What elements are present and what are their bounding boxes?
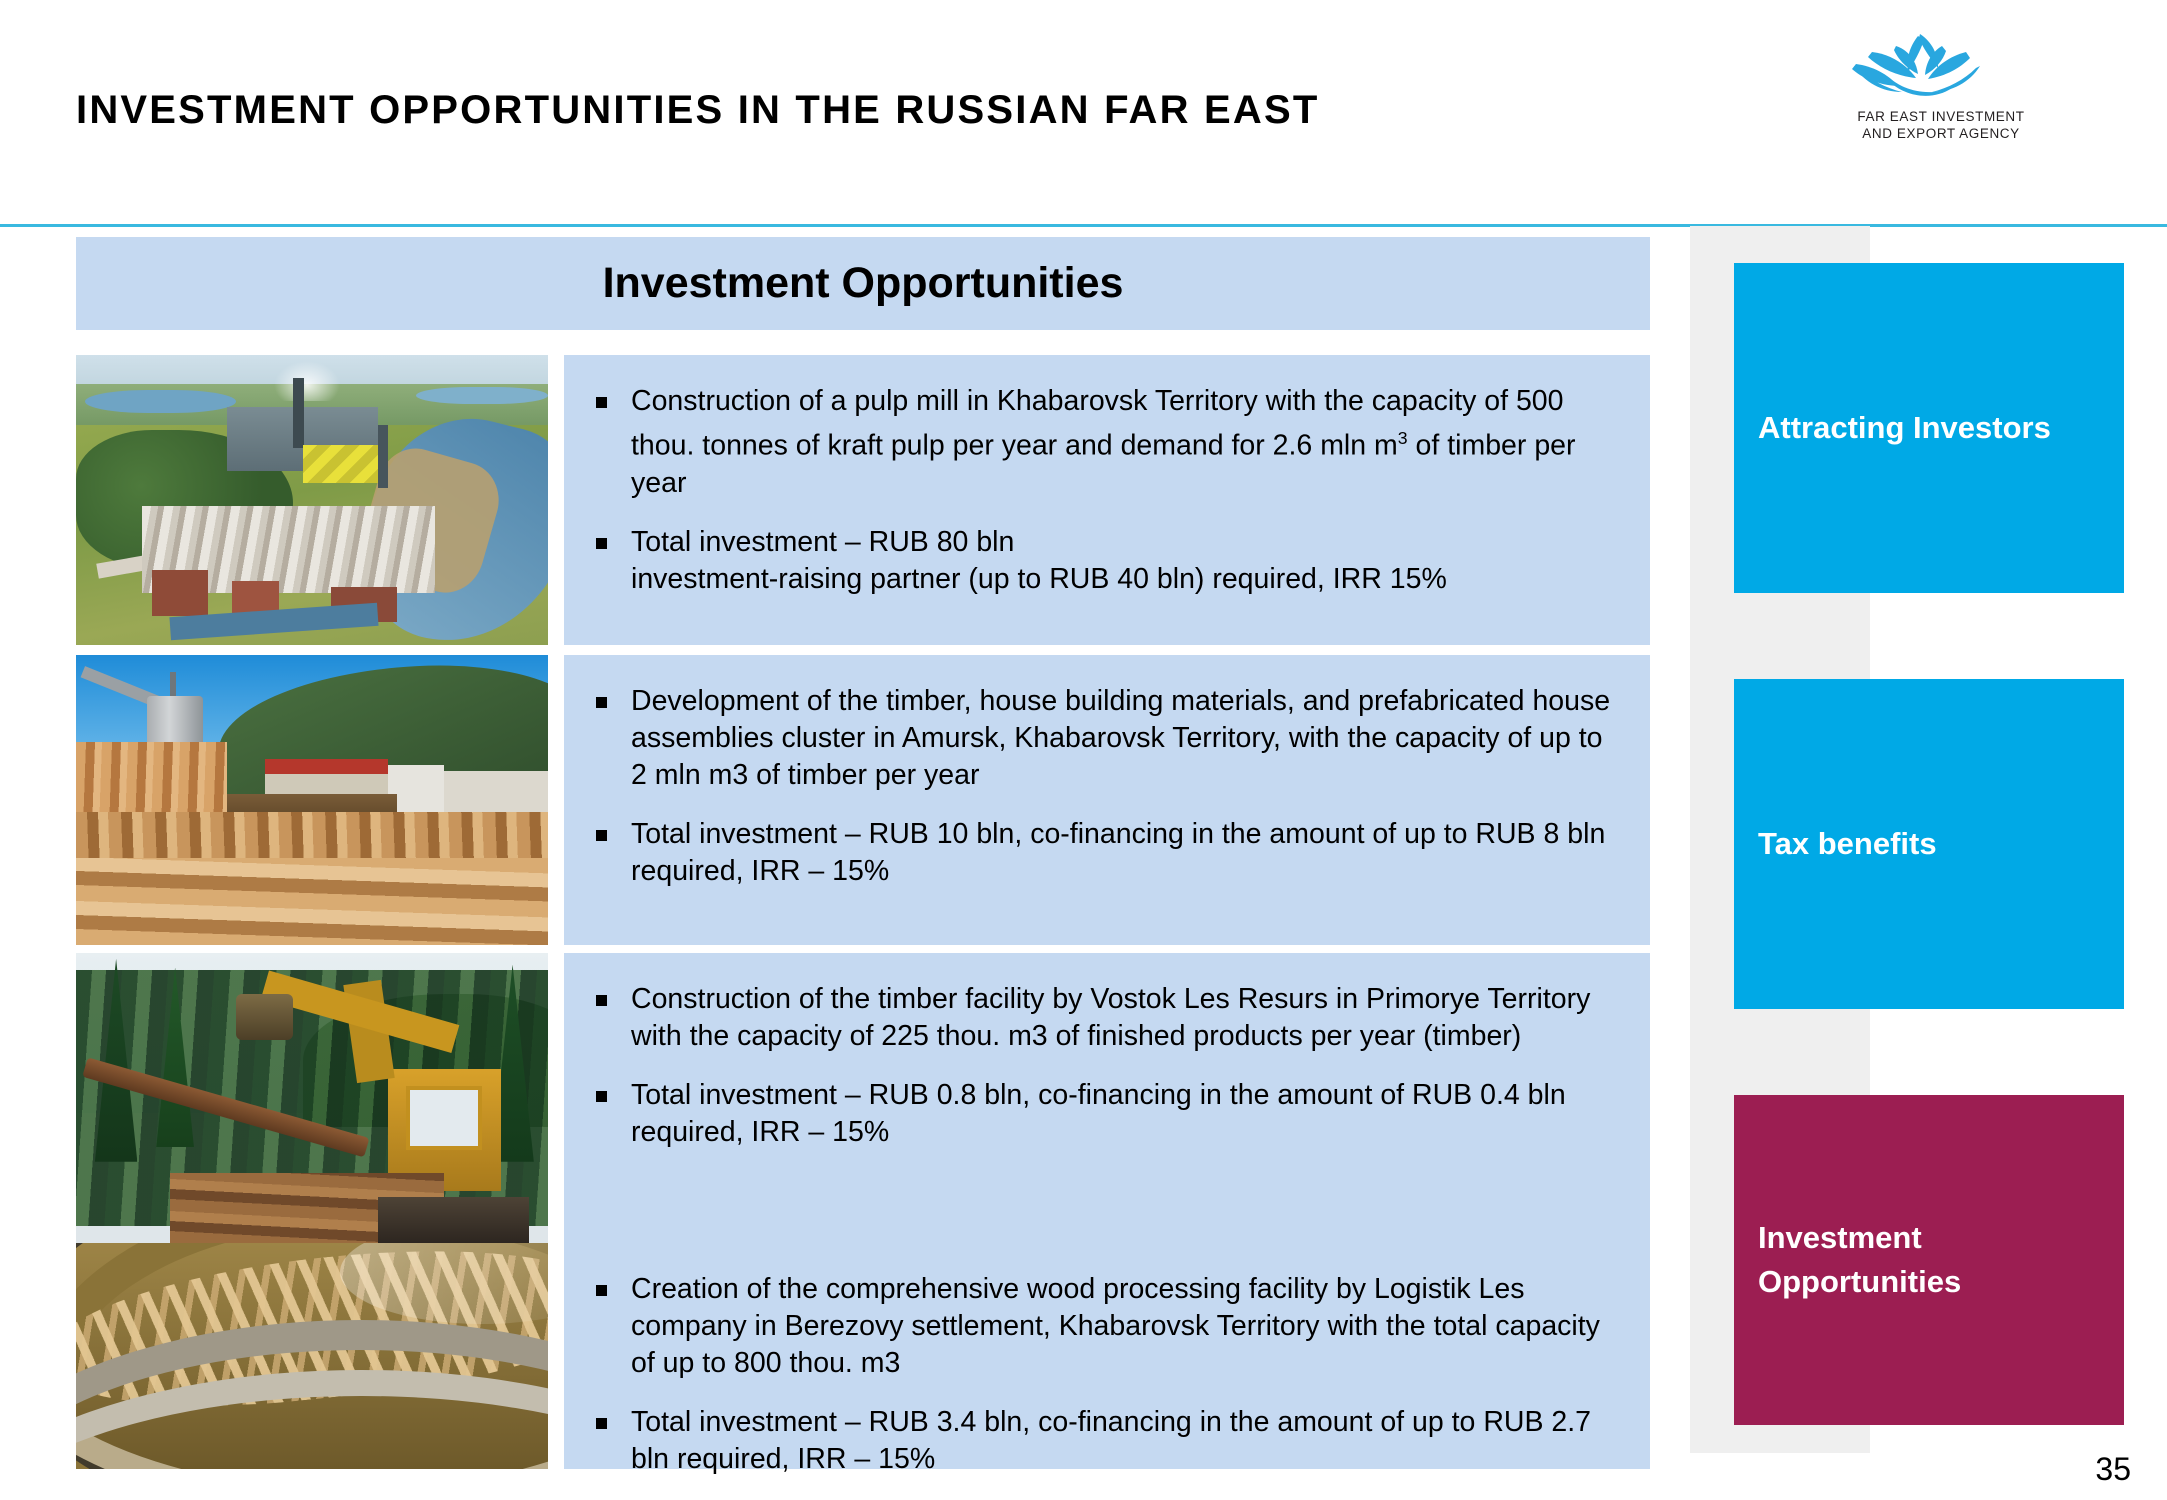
rail-card-tax-benefits[interactable]: Tax benefits <box>1734 679 2124 1009</box>
bullet-text: Construction of a pulp mill in Khabarovs… <box>631 383 1624 502</box>
slide-header: INVESTMENT OPPORTUNITIES IN THE RUSSIAN … <box>0 0 2167 226</box>
sawmill-log-yard-photo <box>76 655 548 945</box>
opportunity-text-block: Creation of the comprehensive wood proce… <box>564 1243 1650 1469</box>
bullet-item: Construction of a pulp mill in Khabarovs… <box>586 383 1624 502</box>
logo-text-line-1: FAR EAST INVESTMENT <box>1806 108 2076 125</box>
opportunity-row: Development of the timber, house buildin… <box>76 655 1650 945</box>
logo-text-line-2: AND EXPORT AGENCY <box>1806 125 2076 142</box>
rail-card-label: Investment Opportunities <box>1758 1216 2100 1304</box>
bullet-text: Total investment – RUB 3.4 bln, co-finan… <box>631 1404 1624 1478</box>
bullet-text: Total investment – RUB 10 bln, co-financ… <box>631 816 1624 890</box>
bullet-text: Development of the timber, house buildin… <box>631 683 1624 794</box>
bullet-square-icon <box>596 538 607 549</box>
bullet-text: Total investment – RUB 80 bln investment… <box>631 524 1624 598</box>
section-banner: Investment Opportunities <box>76 237 1650 330</box>
rail-card-investment-opportunities[interactable]: Investment Opportunities <box>1734 1095 2124 1425</box>
bullet-item: Total investment – RUB 80 bln investment… <box>586 524 1624 598</box>
page-title: INVESTMENT OPPORTUNITIES IN THE RUSSIAN … <box>76 88 1319 133</box>
opportunity-row: Construction of the timber facility by V… <box>76 953 1650 1243</box>
rail-card-label: Tax benefits <box>1758 822 1937 866</box>
bullet-square-icon <box>596 1418 607 1429</box>
bullet-text: Construction of the timber facility by V… <box>631 981 1624 1055</box>
opportunity-row: Creation of the comprehensive wood proce… <box>76 1243 1650 1500</box>
bullet-text: Total investment – RUB 0.8 bln, co-finan… <box>631 1077 1624 1151</box>
bullet-item: Total investment – RUB 3.4 bln, co-finan… <box>586 1404 1624 1478</box>
bullet-item: Development of the timber, house buildin… <box>586 683 1624 794</box>
bullet-square-icon <box>596 697 607 708</box>
opportunity-text-block: Construction of a pulp mill in Khabarovs… <box>564 355 1650 645</box>
bullet-text: Creation of the comprehensive wood proce… <box>631 1271 1624 1382</box>
bullet-square-icon <box>596 397 607 408</box>
bullet-square-icon <box>596 995 607 1006</box>
section-banner-title: Investment Opportunities <box>603 259 1124 308</box>
bullet-item: Construction of the timber facility by V… <box>586 981 1624 1055</box>
pulp-mill-aerial-photo <box>76 355 548 645</box>
opportunity-row: Construction of a pulp mill in Khabarovs… <box>76 355 1650 645</box>
page-number: 35 <box>2095 1451 2131 1488</box>
bullet-item: Creation of the comprehensive wood proce… <box>586 1271 1624 1382</box>
bullet-square-icon <box>596 1285 607 1296</box>
agency-logo: FAR EAST INVESTMENT AND EXPORT AGENCY <box>1806 30 2076 150</box>
rail-card-attracting-investors[interactable]: Attracting Investors <box>1734 263 2124 593</box>
bullet-square-icon <box>596 830 607 841</box>
log-loader-forest-photo <box>76 953 548 1243</box>
wood-pellet-mill-photo <box>76 1243 548 1469</box>
rail-card-label: Attracting Investors <box>1758 406 2051 450</box>
opportunity-text-block: Construction of the timber facility by V… <box>564 953 1650 1243</box>
bullet-square-icon <box>596 1091 607 1102</box>
lotus-flower-logo-icon <box>1834 30 2004 108</box>
bullet-item: Total investment – RUB 10 bln, co-financ… <box>586 816 1624 890</box>
opportunity-text-block: Development of the timber, house buildin… <box>564 655 1650 945</box>
bullet-item: Total investment – RUB 0.8 bln, co-finan… <box>586 1077 1624 1151</box>
agency-logo-text: FAR EAST INVESTMENT AND EXPORT AGENCY <box>1806 108 2076 142</box>
